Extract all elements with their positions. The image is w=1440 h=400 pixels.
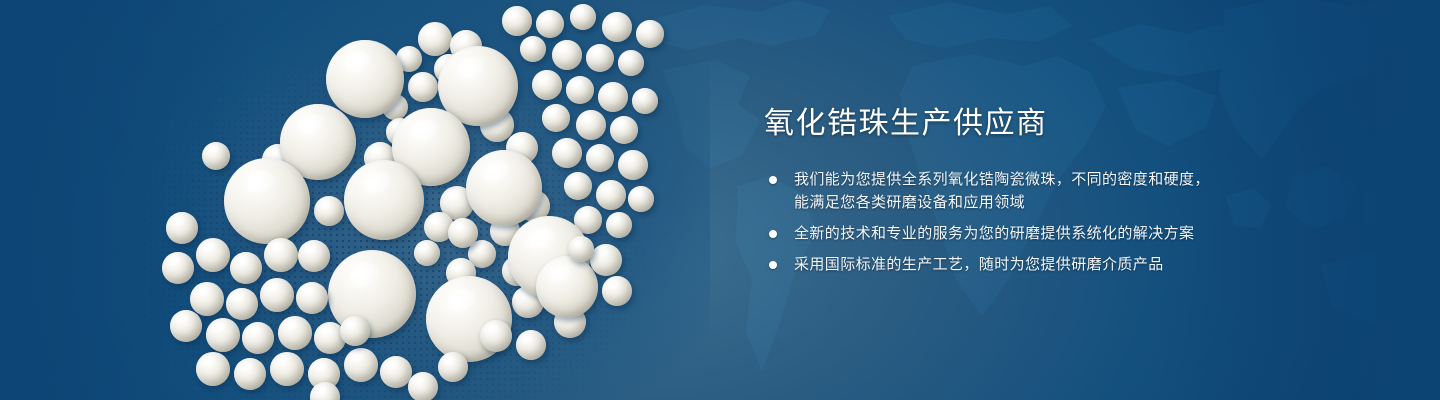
bead-medium — [602, 276, 632, 306]
bead-medium — [590, 244, 622, 276]
bead-medium — [568, 236, 594, 262]
hero-banner: 氧化锆珠生产供应商 我们能为您提供全系列氧化锆陶瓷微珠，不同的密度和硬度， 能满… — [0, 0, 1440, 400]
bead-medium — [162, 252, 194, 284]
bead-small — [552, 40, 582, 70]
bead-small — [636, 20, 664, 48]
page-title: 氧化锆珠生产供应商 — [764, 104, 1364, 144]
bead-medium — [380, 356, 412, 388]
bead-small — [532, 70, 562, 100]
bead-medium — [418, 22, 452, 56]
banner-content: 氧化锆珠生产供应商 我们能为您提供全系列氧化锆陶瓷微珠，不同的密度和硬度， 能满… — [764, 104, 1364, 276]
list-item: 采用国际标准的生产工艺，随时为您提供研磨介质产品 — [764, 253, 1364, 276]
bead-medium — [296, 282, 328, 314]
bead-small — [536, 10, 564, 38]
bead-large — [466, 150, 542, 226]
bead-medium — [190, 282, 224, 316]
bead-medium — [196, 238, 230, 272]
bead-large — [344, 160, 424, 240]
list-item-line: 全新的技术和专业的服务为您的研磨提供系统化的解决方案 — [794, 222, 1364, 245]
bead-medium — [340, 316, 370, 346]
bead-medium — [408, 372, 438, 400]
bead-medium — [448, 218, 478, 248]
bead-medium — [314, 196, 344, 226]
zirconia-beads-photo — [150, 0, 710, 400]
bead-small — [202, 142, 230, 170]
bead-small — [618, 50, 644, 76]
bead-medium — [298, 240, 330, 272]
feature-list: 我们能为您提供全系列氧化锆陶瓷微珠，不同的密度和硬度， 能满足您各类研磨设备和应… — [764, 168, 1364, 276]
bead-medium — [480, 320, 512, 352]
list-item-line: 能满足您各类研磨设备和应用领域 — [794, 191, 1364, 214]
list-item: 我们能为您提供全系列氧化锆陶瓷微珠，不同的密度和硬度， 能满足您各类研磨设备和应… — [764, 168, 1364, 214]
bead-medium — [344, 348, 378, 382]
bead-medium — [408, 72, 438, 102]
bead-medium — [206, 318, 240, 352]
bullet-dot-icon — [769, 176, 777, 184]
bead-medium — [196, 352, 230, 386]
bead-small — [606, 212, 632, 238]
bead-small — [602, 12, 632, 42]
bead-small — [542, 104, 570, 132]
bead-small — [552, 138, 582, 168]
bead-small — [520, 36, 546, 62]
bead-large — [326, 40, 404, 118]
bead-small — [628, 186, 654, 212]
bead-medium — [242, 322, 274, 354]
bead-small — [570, 4, 596, 30]
bead-small — [166, 212, 198, 244]
bead-medium — [170, 310, 202, 342]
bead-small — [586, 144, 614, 172]
beads-cluster — [150, 0, 710, 400]
bead-small — [566, 76, 594, 104]
bead-small — [596, 180, 626, 210]
bead-medium — [438, 352, 468, 382]
bead-small — [576, 110, 606, 140]
bead-medium — [516, 330, 546, 360]
bead-medium — [230, 252, 262, 284]
bead-medium — [264, 238, 298, 272]
bead-small — [610, 116, 638, 144]
bead-medium — [414, 240, 440, 266]
bead-small — [632, 88, 658, 114]
bead-large — [224, 158, 310, 244]
list-item-line: 采用国际标准的生产工艺，随时为您提供研磨介质产品 — [794, 253, 1364, 276]
bead-small — [598, 82, 628, 112]
bead-small — [618, 150, 648, 180]
list-item: 全新的技术和专业的服务为您的研磨提供系统化的解决方案 — [764, 222, 1364, 245]
bead-small — [586, 44, 614, 72]
bead-medium — [226, 288, 258, 320]
bead-medium — [278, 316, 312, 350]
bead-small — [564, 172, 592, 200]
bullet-dot-icon — [769, 261, 777, 269]
bead-medium — [270, 352, 304, 386]
bead-large — [536, 256, 598, 318]
list-item-line: 我们能为您提供全系列氧化锆陶瓷微珠，不同的密度和硬度， — [794, 168, 1364, 191]
bead-small — [502, 6, 532, 36]
bullet-dot-icon — [769, 230, 777, 238]
bead-medium — [260, 278, 294, 312]
bead-medium — [234, 358, 266, 390]
